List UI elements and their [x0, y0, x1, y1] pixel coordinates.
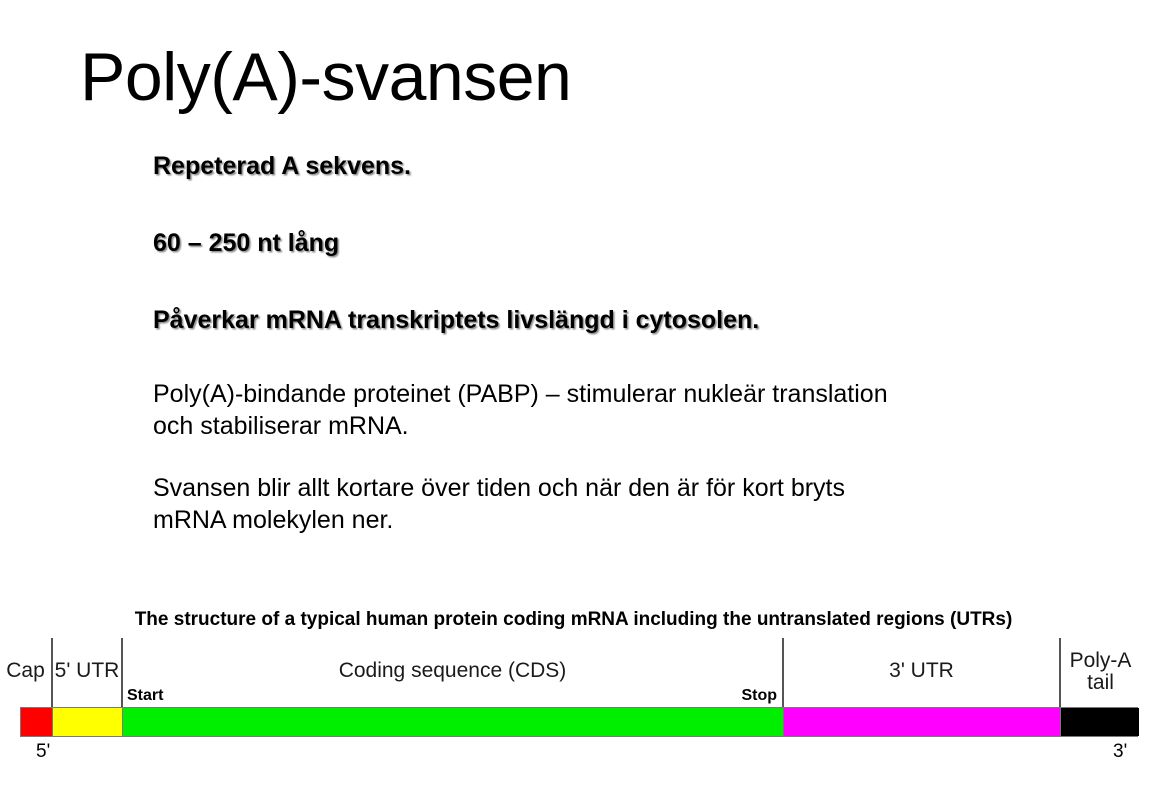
- segment-polya-tail: [1061, 708, 1139, 736]
- bullet-repeated-sequence: Repeterad A sekvens.: [153, 150, 1033, 182]
- mrna-bar: [20, 707, 1138, 737]
- page-title: Poly(A)-svansen: [80, 43, 571, 111]
- label-coding-sequence: Coding sequence (CDS): [123, 660, 782, 682]
- label-polya-tail-line2: tail: [1087, 671, 1114, 694]
- slide-body: Repeterad A sekvens. 60 – 250 nt lång På…: [153, 150, 1033, 536]
- label-three-utr: 3' UTR: [784, 660, 1059, 682]
- spacer: [153, 336, 1033, 378]
- label-five-utr: 5' UTR: [53, 660, 121, 682]
- label-polya-tail-line1: Poly-A: [1070, 649, 1132, 672]
- segment-coding-sequence: [123, 708, 784, 736]
- segment-five-utr: [53, 708, 123, 736]
- segment-cap: [21, 708, 53, 736]
- label-polya-tail: Poly-Atail: [1061, 650, 1140, 694]
- bullet-length-range: 60 – 250 nt lång: [153, 227, 1033, 259]
- bullet-pabp: Poly(A)-bindande proteinet (PABP) – stim…: [153, 378, 1033, 442]
- spacer: [153, 259, 1033, 304]
- spacer: [153, 182, 1033, 227]
- segment-three-utr: [784, 708, 1061, 736]
- bullet-lifespan: Påverkar mRNA transkriptets livslängd i …: [153, 304, 1033, 336]
- label-cap: Cap: [0, 660, 51, 682]
- label-five-prime-end: 5': [36, 741, 50, 763]
- spacer: [153, 442, 1033, 472]
- label-stop-codon: Stop: [660, 687, 777, 705]
- mrna-structure-figure: The structure of a typical human protein…: [0, 600, 1160, 804]
- figure-caption: The structure of a typical human protein…: [0, 609, 1147, 631]
- label-start-codon: Start: [127, 687, 163, 705]
- label-three-prime-end: 3': [1113, 741, 1127, 763]
- bullet-shortening: Svansen blir allt kortare över tiden och…: [153, 472, 1033, 536]
